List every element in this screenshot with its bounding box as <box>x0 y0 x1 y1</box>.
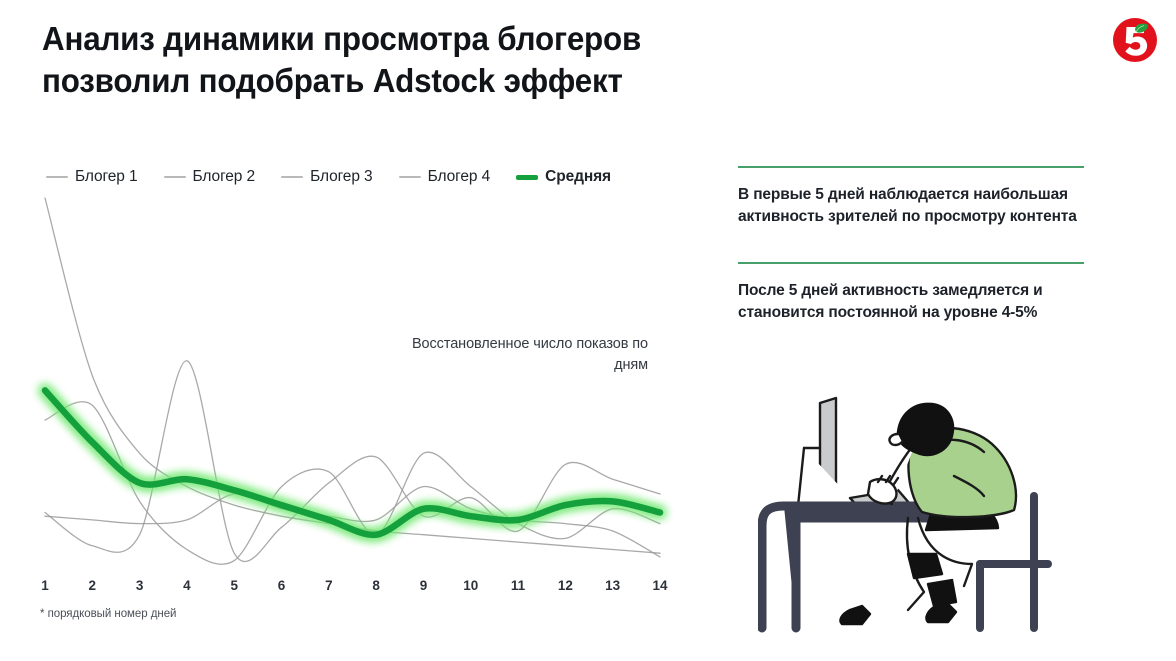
x-axis-tick: 8 <box>372 578 380 593</box>
legend-label: Блогер 2 <box>193 168 256 186</box>
x-axis-tick: 13 <box>605 578 620 593</box>
x-axis-tick: 1 <box>41 578 49 593</box>
x-axis-tick: 7 <box>325 578 333 593</box>
x-axis-tick: 4 <box>183 578 191 593</box>
legend-swatch-icon <box>516 175 538 180</box>
insight-block-1: В первые 5 дней наблюдается наибольшая а… <box>738 166 1084 228</box>
insight-text: После 5 дней активность замедляется и ст… <box>738 280 1084 324</box>
legend-label: Средняя <box>545 168 611 186</box>
legend-item-blogger-4[interactable]: Блогер 4 <box>399 168 491 186</box>
x-axis-tick: 6 <box>278 578 286 593</box>
chart-x-axis: 1234567891011121314 <box>30 578 678 600</box>
slide-root: Анализ динамики просмотра блогеров позво… <box>0 0 1176 661</box>
insight-text: В первые 5 дней наблюдается наибольшая а… <box>738 184 1084 228</box>
x-axis-tick: 3 <box>136 578 144 593</box>
legend-swatch-icon <box>281 176 303 178</box>
x-axis-tick: 2 <box>89 578 97 593</box>
insight-block-2: После 5 дней активность замедляется и ст… <box>738 262 1084 324</box>
page-title-line-1: Анализ динамики просмотра блогеров <box>42 18 840 60</box>
chart-line-average-glow <box>45 390 660 534</box>
x-axis-tick: 9 <box>420 578 428 593</box>
legend-swatch-icon <box>46 176 68 178</box>
chart-line-average <box>45 390 660 534</box>
legend-label: Блогер 1 <box>75 168 138 186</box>
spacer <box>738 228 1084 262</box>
x-axis-tick: 11 <box>511 578 525 593</box>
insights-panel: В первые 5 дней наблюдается наибольшая а… <box>738 166 1084 324</box>
chart-footnote: * порядковый номер дней <box>40 608 176 620</box>
pyaterochka-logo-icon <box>1112 17 1158 63</box>
person-at-desk-illustration <box>758 378 1088 646</box>
chart-annotation: Восстановленное число показов по дням <box>400 334 648 376</box>
legend-label: Блогер 3 <box>310 168 373 186</box>
divider <box>738 262 1084 264</box>
page-title-line-2: позволил подобрать Adstock эффект <box>42 60 840 102</box>
legend-swatch-icon <box>399 176 421 178</box>
page-title: Анализ динамики просмотра блогеров позво… <box>42 18 840 101</box>
monitor-icon <box>798 398 858 506</box>
x-axis-tick: 14 <box>652 578 667 593</box>
line-chart <box>30 190 680 580</box>
chart-series-average-group <box>45 390 660 534</box>
x-axis-tick: 10 <box>463 578 478 593</box>
legend-item-blogger-2[interactable]: Блогер 2 <box>164 168 256 186</box>
legend-item-blogger-3[interactable]: Блогер 3 <box>281 168 373 186</box>
divider <box>738 166 1084 168</box>
legend-item-average[interactable]: Средняя <box>516 168 611 186</box>
legend-item-blogger-1[interactable]: Блогер 1 <box>46 168 138 186</box>
chart-legend: Блогер 1 Блогер 2 Блогер 3 Блогер 4 Сред… <box>46 168 611 186</box>
legend-swatch-icon <box>164 176 186 178</box>
x-axis-tick: 5 <box>230 578 238 593</box>
desk-icon <box>762 506 928 628</box>
x-axis-tick: 12 <box>558 578 573 593</box>
legend-label: Блогер 4 <box>428 168 491 186</box>
